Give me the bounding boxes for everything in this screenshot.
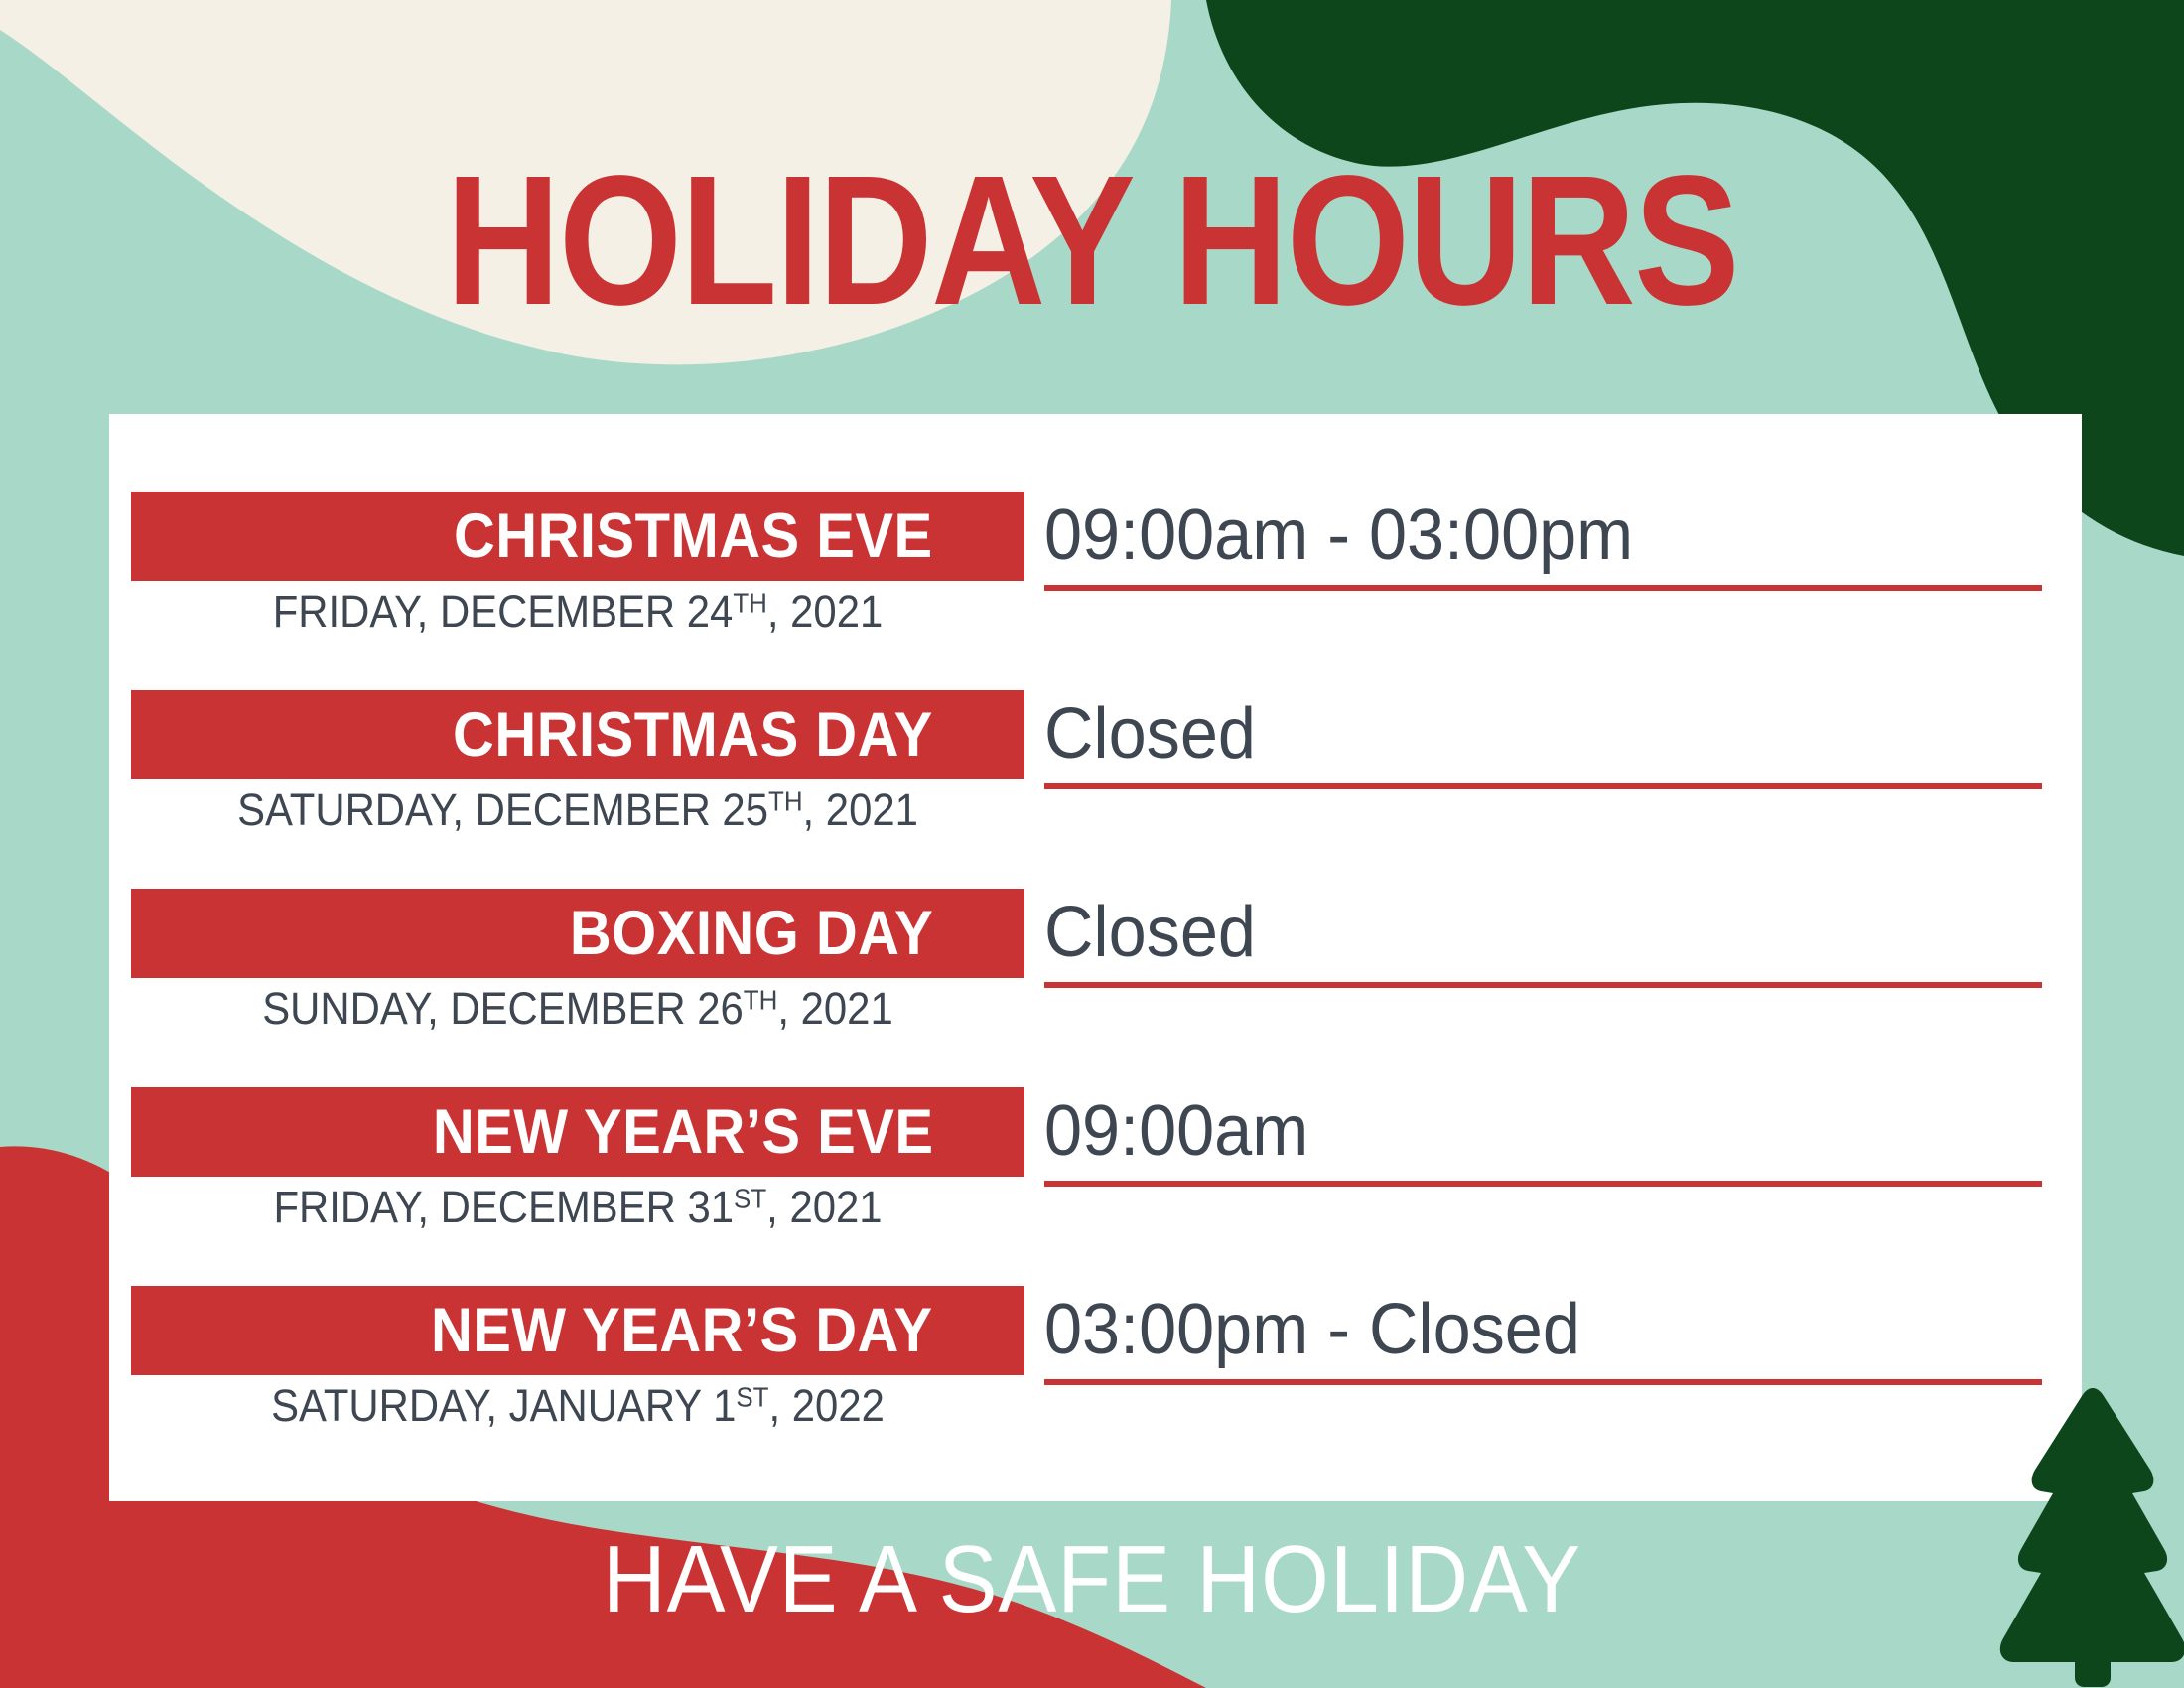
holiday-hours-poster: HOLIDAY HOURS CHRISTMAS EVE FRIDAY, DECE…	[0, 0, 2184, 1688]
hours-value: 03:00pm - Closed	[1044, 1294, 1580, 1365]
date-text: SATURDAY, DECEMBER 25	[237, 784, 768, 835]
date-ordinal: TH	[768, 786, 803, 817]
holiday-date: SUNDAY, DECEMBER 26TH, 2021	[163, 984, 994, 1034]
hours-value: Closed	[1044, 897, 1256, 968]
holiday-date: FRIDAY, DECEMBER 24TH, 2021	[163, 587, 994, 636]
page-title: HOLIDAY HOURS	[153, 149, 2031, 334]
holiday-name: NEW YEAR’S DAY	[431, 1300, 933, 1362]
holiday-date: SATURDAY, DECEMBER 25TH, 2021	[163, 785, 994, 835]
date-year: , 2021	[766, 1182, 882, 1232]
hours-value: 09:00am - 03:00pm	[1044, 499, 1633, 571]
hours-cell: 09:00am	[1044, 1081, 2042, 1187]
table-row: BOXING DAY SUNDAY, DECEMBER 26TH, 2021 C…	[109, 889, 2082, 1087]
holiday-name-plate: CHRISTMAS DAY	[131, 690, 1024, 779]
holiday-name-plate: CHRISTMAS EVE	[131, 492, 1024, 581]
schedule-card: CHRISTMAS EVE FRIDAY, DECEMBER 24TH, 202…	[109, 414, 2082, 1501]
date-text: SUNDAY, DECEMBER 26	[262, 983, 744, 1034]
holiday-name-plate: NEW YEAR’S DAY	[131, 1286, 1024, 1375]
date-ordinal: TH	[733, 588, 767, 619]
table-row: NEW YEAR’S EVE FRIDAY, DECEMBER 31ST, 20…	[109, 1087, 2082, 1286]
christmas-tree-icon	[1993, 1384, 2184, 1688]
hours-cell: 03:00pm - Closed	[1044, 1280, 2042, 1385]
hours-cell: Closed	[1044, 883, 2042, 988]
holiday-name: CHRISTMAS EVE	[454, 505, 933, 568]
table-row: NEW YEAR’S DAY SATURDAY, JANUARY 1ST, 20…	[109, 1286, 2082, 1484]
date-year: , 2022	[769, 1380, 885, 1431]
hours-cell: 09:00am - 03:00pm	[1044, 486, 2042, 591]
hours-cell: Closed	[1044, 684, 2042, 789]
date-year: , 2021	[803, 784, 918, 835]
date-year: , 2021	[767, 586, 883, 636]
holiday-name: NEW YEAR’S EVE	[432, 1101, 933, 1164]
date-ordinal: ST	[736, 1382, 768, 1413]
date-year: , 2021	[777, 983, 892, 1034]
date-ordinal: TH	[744, 985, 778, 1016]
hours-value: Closed	[1044, 698, 1256, 770]
date-ordinal: ST	[734, 1184, 766, 1214]
holiday-date: SATURDAY, JANUARY 1ST, 2022	[163, 1381, 994, 1431]
schedule-rows: CHRISTMAS EVE FRIDAY, DECEMBER 24TH, 202…	[109, 414, 2082, 1501]
table-row: CHRISTMAS DAY SATURDAY, DECEMBER 25TH, 2…	[109, 690, 2082, 889]
holiday-name-plate: NEW YEAR’S EVE	[131, 1087, 1024, 1177]
date-text: SATURDAY, JANUARY 1	[271, 1380, 736, 1431]
footer-message: HAVE A SAFE HOLIDAY	[87, 1532, 2097, 1627]
date-text: FRIDAY, DECEMBER 31	[273, 1182, 734, 1232]
holiday-name-plate: BOXING DAY	[131, 889, 1024, 978]
holiday-date: FRIDAY, DECEMBER 31ST, 2021	[163, 1183, 994, 1232]
holiday-name: CHRISTMAS DAY	[453, 704, 933, 767]
hours-value: 09:00am	[1044, 1095, 1308, 1167]
table-row: CHRISTMAS EVE FRIDAY, DECEMBER 24TH, 202…	[109, 492, 2082, 690]
holiday-name: BOXING DAY	[570, 903, 933, 965]
date-text: FRIDAY, DECEMBER 24	[273, 586, 734, 636]
